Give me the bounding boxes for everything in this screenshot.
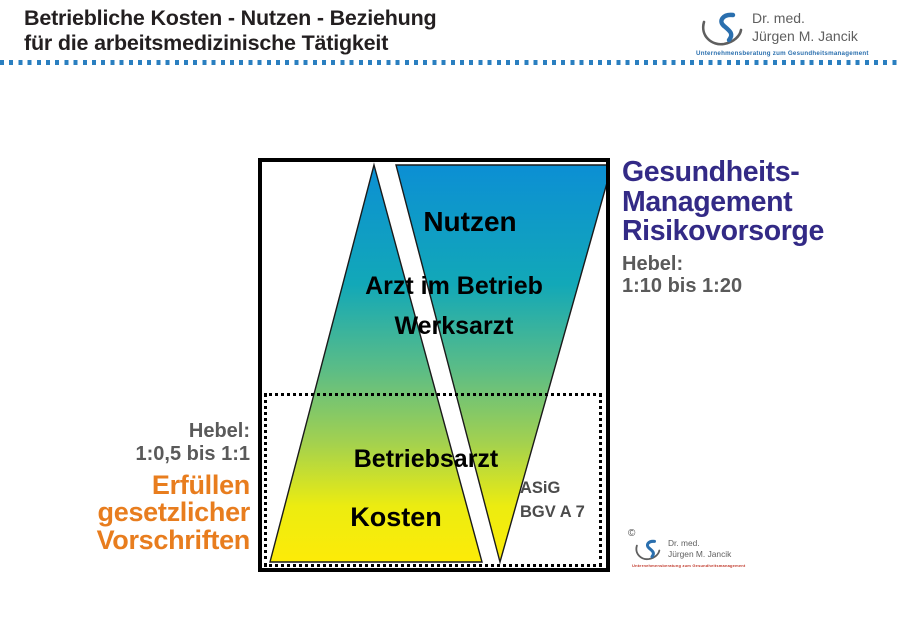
- stylized-s-swoosh-icon: [632, 538, 666, 563]
- page-title-line-1: Betriebliche Kosten - Nutzen - Beziehung: [24, 6, 584, 31]
- benefit-headline-line-2: Management: [622, 188, 900, 218]
- benefit-headline-line-1: Gesundheits-: [622, 158, 900, 188]
- footer-brand-name-line-2: Jürgen M. Jancik: [668, 549, 731, 559]
- cost-lever-label: Hebel:: [0, 420, 250, 443]
- cost-lever-value: 1:0,5 bis 1:1: [0, 443, 250, 466]
- cost-benefit-diagram: Nutzen Arzt im Betrieb Werksarzt Betrieb…: [258, 158, 610, 572]
- benefit-lever-value: 1:10 bis 1:20: [622, 275, 900, 297]
- footer-brand-logo: © Dr. med. Jürgen M. Jancik Unternehmens…: [622, 528, 732, 574]
- cost-side-text: Hebel: 1:0,5 bis 1:1 Erfüllen gesetzlich…: [0, 420, 250, 555]
- benefit-headline: Gesundheits- Management Risikovorsorge: [622, 158, 900, 247]
- cost-lever: Hebel: 1:0,5 bis 1:1: [0, 420, 250, 466]
- page-title-line-2: für die arbeitsmedizinische Tätigkeit: [24, 31, 584, 56]
- label-kosten: Kosten: [296, 502, 496, 533]
- benefit-lever-label: Hebel:: [622, 253, 900, 275]
- label-betriebsarzt: Betriebsarzt: [296, 445, 556, 474]
- brand-name-line-2: Jürgen M. Jancik: [752, 28, 858, 44]
- stylized-s-swoosh-icon: [696, 10, 752, 50]
- brand-name: Dr. med. Jürgen M. Jancik: [752, 10, 858, 45]
- cost-statement-line-2: gesetzlicher: [0, 499, 250, 527]
- brand-logo: Dr. med. Jürgen M. Jancik Unternehmensbe…: [690, 6, 890, 58]
- label-arzt-im-betrieb: Arzt im Betrieb: [324, 272, 584, 301]
- benefit-headline-line-3: Risikovorsorge: [622, 217, 900, 247]
- brand-tagline: Unternehmensberatung zum Gesundheitsmana…: [696, 50, 869, 57]
- cost-statement-line-1: Erfüllen: [0, 472, 250, 500]
- brand-name-line-1: Dr. med.: [752, 10, 805, 26]
- label-nutzen: Nutzen: [380, 206, 560, 238]
- cost-statement-line-3: Vorschriften: [0, 527, 250, 555]
- page-title: Betriebliche Kosten - Nutzen - Beziehung…: [24, 6, 584, 57]
- header-dotted-divider: [0, 60, 900, 65]
- benefit-lever: Hebel: 1:10 bis 1:20: [622, 253, 900, 298]
- slide-canvas: Betriebliche Kosten - Nutzen - Beziehung…: [0, 0, 900, 633]
- label-werksarzt: Werksarzt: [324, 312, 584, 341]
- footer-brand-name: Dr. med. Jürgen M. Jancik: [668, 538, 731, 559]
- cost-statement: Erfüllen gesetzlicher Vorschriften: [0, 472, 250, 555]
- diagram-canvas: Nutzen Arzt im Betrieb Werksarzt Betrieb…: [262, 162, 606, 568]
- legal-basis-line-1: ASiG: [520, 477, 585, 501]
- benefit-side-text: Gesundheits- Management Risikovorsorge H…: [622, 158, 900, 298]
- legal-basis-label: ASiG BGV A 7: [520, 477, 585, 525]
- footer-brand-tagline: Unternehmensberatung zum Gesundheitsmana…: [632, 563, 745, 568]
- legal-basis-line-2: BGV A 7: [520, 501, 585, 525]
- footer-brand-name-line-1: Dr. med.: [668, 538, 700, 548]
